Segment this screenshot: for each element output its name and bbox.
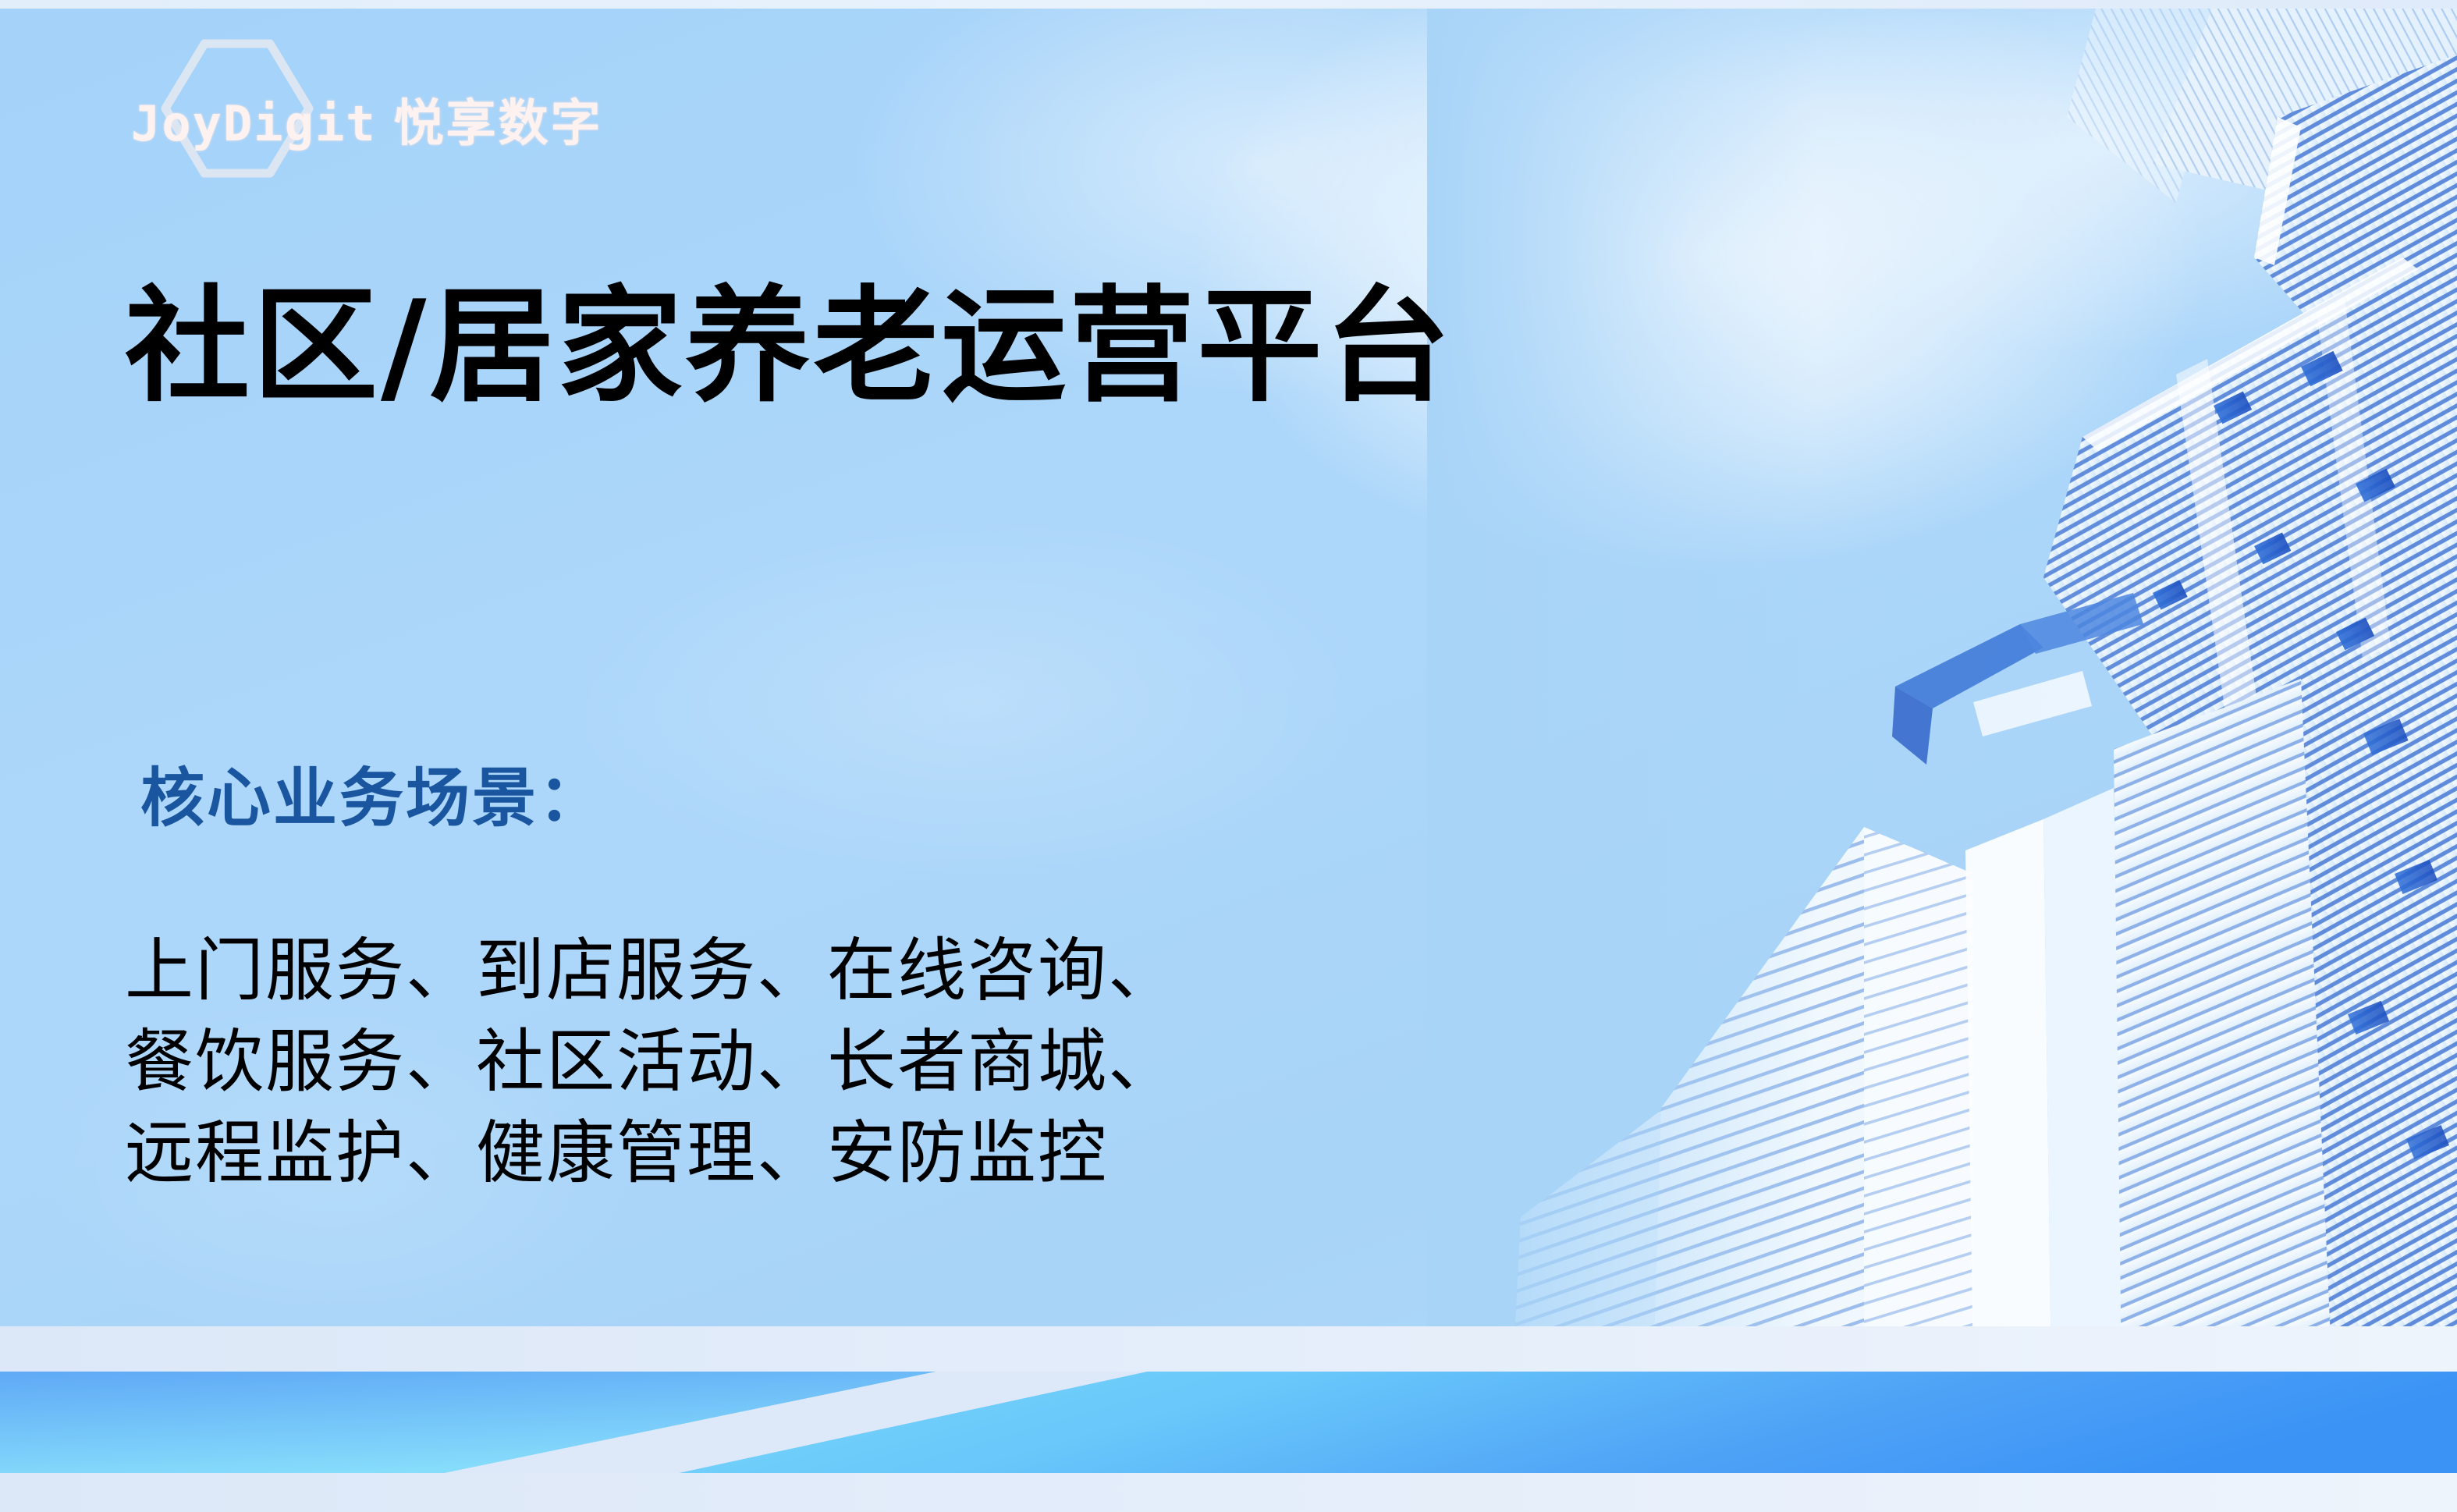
- top-edge-strip: [0, 0, 2457, 9]
- section-heading: 核心业务场景：: [140, 761, 605, 837]
- skyscraper-photo: [1427, 0, 2457, 1373]
- brand-name-en: JoyDigit: [131, 100, 377, 148]
- scenario-line-3: 远程监护、健康管理、安防监控: [125, 1107, 1178, 1198]
- brand-logo: JoyDigit 悦享数字: [131, 37, 603, 170]
- bottom-decorative-band: [0, 1326, 2457, 1512]
- scenario-line-1: 上门服务、到店服务、在线咨询、: [125, 925, 1178, 1016]
- scenario-list: 上门服务、到店服务、在线咨询、 餐饮服务、社区活动、长者商城、 远程监护、健康管…: [125, 925, 1178, 1198]
- slide-root: JoyDigit 悦享数字 社区/居家养老运营平台 核心业务场景： 上门服务、到…: [0, 0, 2457, 1512]
- brand-logo-text: JoyDigit 悦享数字: [131, 99, 603, 149]
- page-title: 社区/居家养老运营平台: [125, 273, 1453, 421]
- scenario-line-2: 餐饮服务、社区活动、长者商城、: [125, 1016, 1178, 1107]
- brand-name-cn: 悦享数字: [394, 99, 603, 149]
